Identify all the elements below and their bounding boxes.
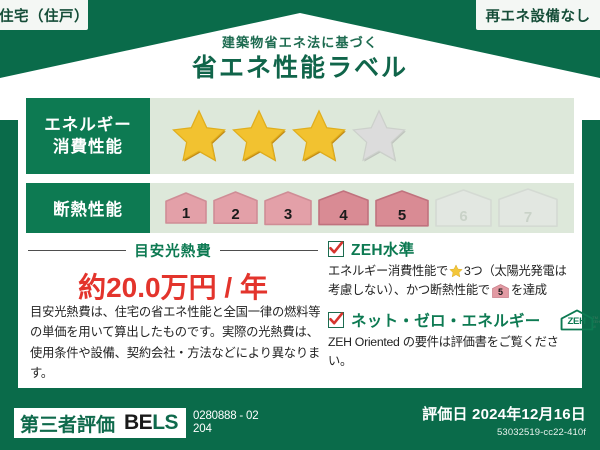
evaluation-date-value: 2024年12月16日 bbox=[472, 406, 586, 423]
house-level-number: 5 bbox=[492, 284, 509, 298]
house-icon-filled bbox=[317, 189, 370, 227]
evaluation-code: 53032519-cc22-410f bbox=[422, 427, 586, 438]
energy-performance-row: エネルギー 消費性能 bbox=[26, 98, 574, 174]
claim-zeh-standard-title: ZEH水準 bbox=[351, 238, 415, 260]
estimated-cost-block: 目安光熱費 約20.0万円 / 年 bbox=[28, 240, 318, 306]
claim-net-zero-head: ネット・ゼロ・エネルギー ZEH TM ZEH-M bbox=[328, 309, 574, 331]
label-title-block: 建築物省エネ法に基づく 省エネ性能ラベル bbox=[0, 36, 600, 83]
house-icon-filled bbox=[263, 190, 313, 226]
claim-zeh-standard-head: ZEH水準 bbox=[328, 238, 574, 260]
star-icon-filled bbox=[170, 107, 228, 165]
third-party-eval-text: 第三者評価 bbox=[20, 410, 115, 437]
claim-net-zero-body: ZEH Oriented の要件は評価書をご覧ください。 bbox=[328, 333, 574, 372]
house-level-icon: 5 bbox=[492, 284, 509, 298]
check-icon bbox=[328, 240, 344, 256]
evaluation-footer: 評価日 2024年12月16日 53032519-cc22-410f bbox=[422, 403, 586, 438]
star-icon bbox=[449, 264, 463, 278]
energy-label-line1: エネルギー bbox=[44, 114, 132, 136]
house-icon-filled bbox=[374, 189, 430, 228]
estimated-cost-note: 目安光熱費は、住宅の省エネ性能と全国一律の燃料等の単価を用いて算出したものです。… bbox=[30, 302, 322, 383]
label-body-panel: エネルギー 消費性能 断熱性能 1234567 目安光熱費 約20.0万円 / … bbox=[18, 88, 582, 388]
bels-wordmark: BELS bbox=[124, 411, 178, 435]
check-icon bbox=[328, 311, 344, 327]
zeh-logo-text: ZEH bbox=[560, 309, 594, 331]
bels-footer: 第三者評価 BELS 0280888 - 02 204 bbox=[14, 408, 258, 438]
insulation-level-scale: 1234567 bbox=[150, 183, 574, 233]
zeh-claims: ZEH水準 エネルギー消費性能で3つ（太陽光発電は考慮しない）、かつ断熱性能で5… bbox=[328, 238, 574, 380]
rule-left bbox=[28, 250, 126, 251]
insulation-level-chip: 5 bbox=[374, 189, 430, 228]
label-subtitle: 建築物省エネ法に基づく bbox=[0, 36, 600, 50]
house-icon-empty bbox=[497, 187, 559, 228]
evaluation-date-label: 評価日 bbox=[422, 406, 468, 423]
house-icon-filled bbox=[212, 190, 259, 225]
house-icon-filled bbox=[164, 191, 208, 225]
building-type-tag: 住宅（住戸） bbox=[0, 0, 88, 30]
claim-zeh-standard: ZEH水準 エネルギー消費性能で3つ（太陽光発電は考慮しない）、かつ断熱性能で5… bbox=[328, 238, 574, 301]
insulation-performance-row: 断熱性能 1234567 bbox=[26, 183, 574, 233]
energy-label-line2: 消費性能 bbox=[53, 136, 123, 158]
bels-plate: 第三者評価 BELS bbox=[14, 408, 186, 438]
insulation-level-chip: 6 bbox=[434, 188, 493, 228]
bels-wordmark-part1: BE bbox=[124, 411, 152, 434]
evaluation-date: 評価日 2024年12月16日 bbox=[422, 403, 586, 424]
estimated-cost-amount: 約20.0万円 / 年 bbox=[28, 266, 318, 306]
label-title: 省エネ性能ラベル bbox=[0, 53, 600, 83]
checkbox-net-zero-energy[interactable] bbox=[328, 312, 344, 328]
star-icon-filled bbox=[290, 107, 348, 165]
checkbox-zeh-standard[interactable] bbox=[328, 241, 344, 257]
insulation-performance-label: 断熱性能 bbox=[26, 183, 150, 233]
insulation-level-chip: 3 bbox=[263, 190, 313, 226]
energy-performance-label: エネルギー 消費性能 bbox=[26, 98, 150, 174]
claim-net-zero-title: ネット・ゼロ・エネルギー bbox=[351, 309, 541, 331]
estimated-cost-heading: 目安光熱費 bbox=[28, 240, 318, 261]
bels-registration-number: 0280888 - 02 204 bbox=[193, 410, 258, 436]
claim-zeh-standard-body: エネルギー消費性能で3つ（太陽光発電は考慮しない）、かつ断熱性能で5を達成 bbox=[328, 262, 574, 301]
rule-right bbox=[220, 250, 318, 251]
renewable-energy-tag: 再エネ設備なし bbox=[476, 0, 600, 30]
house-icon-empty bbox=[434, 188, 493, 228]
star-rating bbox=[150, 98, 574, 174]
star-icon-filled bbox=[230, 107, 288, 165]
insulation-level-chip: 1 bbox=[164, 191, 208, 225]
claim-text-part3: を達成 bbox=[511, 283, 547, 297]
claim-text-part1: エネルギー消費性能で bbox=[328, 264, 448, 278]
estimated-cost-heading-text: 目安光熱費 bbox=[134, 240, 212, 261]
insulation-level-chip: 2 bbox=[212, 190, 259, 225]
insulation-level-chip: 4 bbox=[317, 189, 370, 227]
claim-net-zero-energy: ネット・ゼロ・エネルギー ZEH TM ZEH-M bbox=[328, 309, 574, 372]
insulation-level-chip: 7 bbox=[497, 187, 559, 228]
star-icon-empty bbox=[350, 107, 408, 165]
zeh-logo: ZEH TM ZEH-M bbox=[560, 309, 600, 331]
bels-wordmark-part2: LS bbox=[152, 411, 178, 434]
energy-performance-label: 住宅（住戸） 再エネ設備なし 建築物省エネ法に基づく 省エネ性能ラベル エネルギ… bbox=[0, 0, 600, 450]
